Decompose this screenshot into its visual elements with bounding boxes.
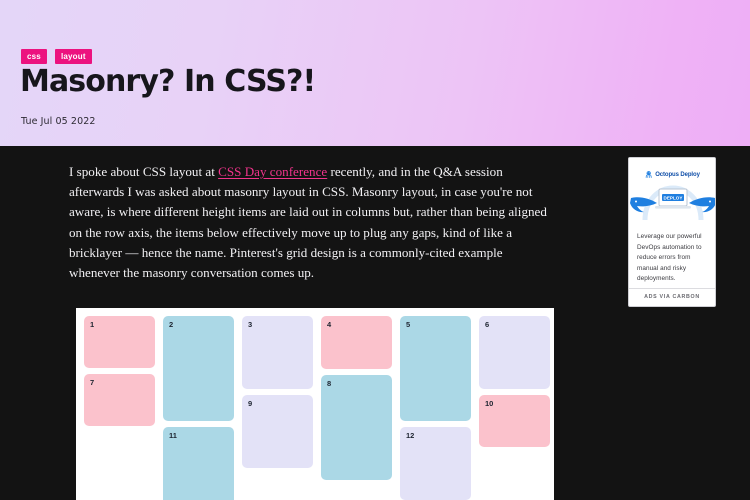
ad-image[interactable]: Octopus Deploy DEPLOY <box>629 158 715 224</box>
masonry-item-5: 5 <box>400 316 471 421</box>
tag-layout[interactable]: layout <box>55 49 92 64</box>
ad-body-text[interactable]: Leverage our powerful DevOps automation … <box>629 224 715 285</box>
page-title: Masonry? In CSS?! <box>20 63 315 101</box>
masonry-item-12: 12 <box>400 427 471 500</box>
page-root: css layout Masonry? In CSS?! Tue Jul 05 … <box>0 0 750 500</box>
masonry-item-2: 2 <box>163 316 234 421</box>
article-paragraph: I spoke about CSS layout at CSS Day conf… <box>69 162 547 283</box>
masonry-item-number: 5 <box>406 320 410 329</box>
masonry-item-number: 4 <box>327 320 331 329</box>
masonry-item-number: 2 <box>169 320 173 329</box>
css-day-conference-link[interactable]: CSS Day conference <box>218 164 327 179</box>
masonry-item-number: 7 <box>90 378 94 387</box>
masonry-item-4: 4 <box>321 316 392 369</box>
svg-text:DEPLOY: DEPLOY <box>664 196 683 201</box>
masonry-item-number: 8 <box>327 379 331 388</box>
tag-list: css layout <box>21 49 92 64</box>
masonry-item-7: 7 <box>84 374 155 426</box>
masonry-item-number: 12 <box>406 431 414 440</box>
article-body: I spoke about CSS layout at CSS Day conf… <box>69 162 547 283</box>
masonry-demo-frame: 123456789101112 <box>76 308 554 500</box>
masonry-grid: 123456789101112 <box>84 316 546 500</box>
ad-illustration: DEPLOY <box>629 176 715 222</box>
masonry-item-number: 10 <box>485 399 493 408</box>
masonry-item-8: 8 <box>321 375 392 480</box>
masonry-item-number: 6 <box>485 320 489 329</box>
masonry-item-11: 11 <box>163 427 234 500</box>
ad-footer-label[interactable]: ADS VIA CARBON <box>629 288 715 306</box>
masonry-item-number: 9 <box>248 399 252 408</box>
tag-css[interactable]: css <box>21 49 47 64</box>
masonry-item-number: 3 <box>248 320 252 329</box>
masonry-item-6: 6 <box>479 316 550 389</box>
carbon-ad-card[interactable]: Octopus Deploy DEPLOY Leverage our power… <box>628 157 716 307</box>
masonry-item-number: 11 <box>169 431 177 440</box>
post-header: css layout Masonry? In CSS?! Tue Jul 05 … <box>0 0 750 146</box>
masonry-item-1: 1 <box>84 316 155 368</box>
paragraph-text-before-link: I spoke about CSS layout at <box>69 164 218 179</box>
post-date: Tue Jul 05 2022 <box>21 116 96 127</box>
masonry-item-3: 3 <box>242 316 313 389</box>
masonry-item-number: 1 <box>90 320 94 329</box>
paragraph-text-after-link: recently, and in the Q&A session afterwa… <box>69 164 547 280</box>
masonry-item-9: 9 <box>242 395 313 468</box>
masonry-item-10: 10 <box>479 395 550 447</box>
